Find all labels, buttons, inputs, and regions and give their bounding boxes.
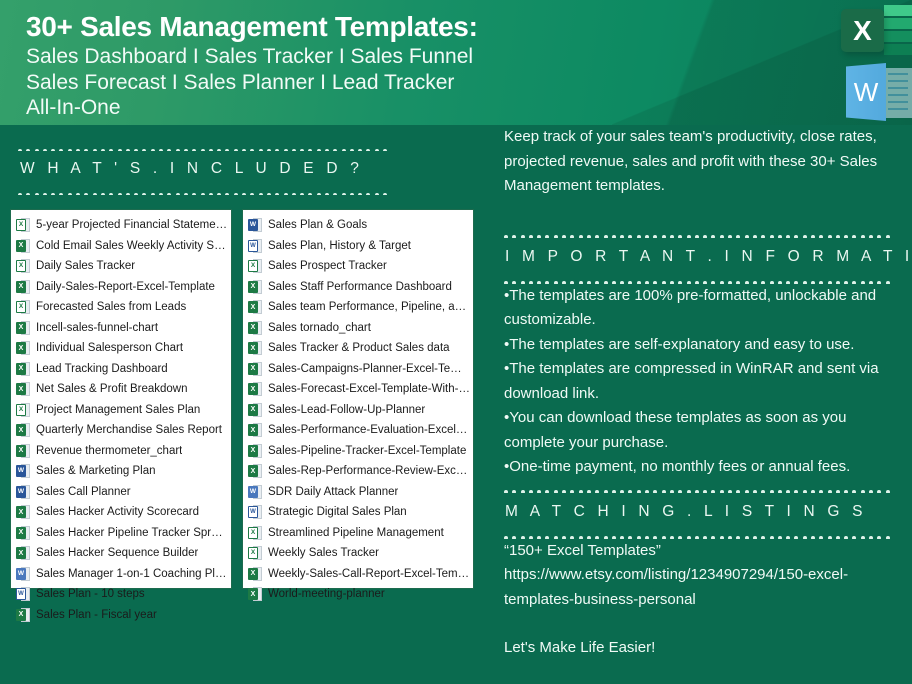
divider-dot (504, 235, 508, 237)
excel-file-icon: X (16, 279, 30, 295)
divider-dot (184, 149, 188, 151)
file-list-panel-left[interactable]: X5-year Projected Financial StatementsXC… (10, 209, 232, 589)
divider-dot (358, 193, 362, 195)
divider-dot (803, 490, 807, 492)
list-item[interactable]: XSales-Campaigns-Planner-Excel-Template (248, 359, 470, 380)
divider-dot (753, 536, 757, 538)
list-item[interactable]: XSales Staff Performance Dashboard (248, 277, 470, 298)
divider-dot (250, 193, 254, 195)
divider-dot (192, 149, 196, 151)
excel-file-icon: X (16, 238, 30, 254)
excel-chart-file-icon: X (16, 299, 30, 315)
divider-dot (225, 193, 229, 195)
divider-dot (852, 536, 856, 538)
list-item[interactable]: WSales Plan, History & Target (248, 236, 470, 257)
divider-dot (761, 536, 765, 538)
excel-sheet-stripe-3 (884, 31, 912, 42)
list-item-label: Incell-sales-funnel-chart (36, 322, 158, 334)
divider-dot (109, 193, 113, 195)
list-item[interactable]: WSDR Daily Attack Planner (248, 482, 470, 503)
list-item-label: Forecasted Sales from Leads (36, 301, 186, 313)
list-item-label: Sales Plan, History & Target (268, 240, 411, 252)
list-item-label: Sales-Pipeline-Tracker-Excel-Template (268, 445, 466, 457)
divider-dot (587, 490, 591, 492)
divider-dot (18, 149, 22, 151)
divider-dot (142, 193, 146, 195)
list-item-label: Sales-Performance-Evaluation-Excel-Te... (268, 424, 470, 436)
divider-dot (711, 536, 715, 538)
list-item[interactable]: WSales Plan & Goals (248, 215, 470, 236)
divider-dot (828, 235, 832, 237)
word-document-page-icon (884, 68, 912, 118)
divider-dot (678, 235, 682, 237)
divider-dot (794, 536, 798, 538)
divider-dot (342, 193, 346, 195)
excel-file-icon: X (16, 443, 30, 459)
divider-dot (595, 235, 599, 237)
divider-dot (720, 536, 724, 538)
divider-dot (869, 235, 873, 237)
divider-dot (570, 235, 574, 237)
divider-dot (358, 149, 362, 151)
list-item[interactable]: XSales Prospect Tracker (248, 256, 470, 277)
list-item[interactable]: WSales Manager 1-on-1 Coaching Planner (16, 564, 228, 585)
excel-file-icon: X (16, 320, 30, 336)
divider-dot (761, 490, 765, 492)
divider-dot (794, 490, 798, 492)
divider-dot (35, 193, 39, 195)
bullet-item: •The templates are 100% pre-formatted, u… (504, 284, 904, 333)
excel-file-icon: X (248, 586, 262, 602)
matching-listings-title: M A T C H I N G . L I S T I N G S (505, 503, 904, 521)
divider-dot (844, 490, 848, 492)
list-item[interactable]: XSales Hacker Activity Scorecard (16, 502, 228, 523)
divider-dot (628, 490, 632, 492)
list-item[interactable]: XSales Hacker Sequence Builder (16, 543, 228, 564)
divider-dot (803, 235, 807, 237)
divider-dot (242, 193, 246, 195)
divider-dot (284, 149, 288, 151)
divider-dot (93, 149, 97, 151)
divider-dot (753, 490, 757, 492)
divider-dot (167, 149, 171, 151)
divider-dot (284, 193, 288, 195)
right-column: Keep track of your sales team's producti… (504, 125, 904, 684)
list-item-label: Sales Manager 1-on-1 Coaching Planner (36, 568, 228, 580)
whats-included-title: W H A T ' S . I N C L U D E D ? (20, 160, 390, 178)
divider-dot (562, 235, 566, 237)
divider-dot (736, 536, 740, 538)
excel-chart-file-icon: X (16, 402, 30, 418)
divider-dot (570, 490, 574, 492)
divider-dot (504, 490, 508, 492)
list-item[interactable]: XLead Tracking Dashboard (16, 359, 228, 380)
divider-dot (537, 490, 541, 492)
dotted-divider-top (18, 142, 390, 151)
divider-dot (695, 490, 699, 492)
divider-dot (877, 281, 881, 283)
divider-dot (877, 536, 881, 538)
list-item-label: Net Sales & Profit Breakdown (36, 383, 188, 395)
divider-dot (844, 536, 848, 538)
list-item[interactable]: WSales Call Planner (16, 482, 228, 503)
word-file-icon: W (248, 484, 262, 500)
divider-dot (653, 235, 657, 237)
divider-dot (59, 193, 63, 195)
list-item[interactable]: XSales tornado_chart (248, 318, 470, 339)
list-item-label: Sales Call Planner (36, 486, 131, 498)
bullet-item: •The templates are compressed in WinRAR … (504, 357, 904, 406)
divider-dot (687, 536, 691, 538)
excel-file-icon: X (248, 279, 262, 295)
divider-dot (176, 149, 180, 151)
list-item[interactable]: XDaily Sales Tracker (16, 256, 228, 277)
divider-dot (670, 536, 674, 538)
whats-included-block: W H A T ' S . I N C L U D E D ? (18, 142, 390, 195)
divider-dot (728, 490, 732, 492)
excel-chart-file-icon: X (16, 258, 30, 274)
divider-dot (159, 193, 163, 195)
list-item[interactable]: XSales Hacker Pipeline Tracker Spreadshe… (16, 523, 228, 544)
list-item[interactable]: XStreamlined Pipeline Management (248, 523, 470, 544)
word-doc-file-icon: W (16, 586, 30, 602)
divider-dot (68, 149, 72, 151)
divider-dot (18, 193, 22, 195)
divider-dot (259, 193, 263, 195)
dotted-divider-important-bottom (504, 275, 904, 284)
divider-dot (604, 235, 608, 237)
divider-dot (736, 235, 740, 237)
divider-dot (562, 490, 566, 492)
divider-dot (620, 490, 624, 492)
intro-paragraph: Keep track of your sales team's producti… (504, 125, 904, 199)
file-list-panel-right[interactable]: WSales Plan & GoalsWSales Plan, History … (242, 209, 474, 589)
divider-dot (217, 149, 221, 151)
divider-dot (184, 193, 188, 195)
divider-dot (209, 193, 213, 195)
divider-dot (670, 490, 674, 492)
dotted-divider-matching-bottom (504, 530, 904, 539)
divider-dot (366, 193, 370, 195)
list-item[interactable]: WSales Plan - 10 steps (16, 584, 228, 605)
excel-sheet-stripe-2 (884, 18, 912, 29)
divider-dot (745, 536, 749, 538)
divider-dot (300, 149, 304, 151)
list-item[interactable]: WStrategic Digital Sales Plan (248, 502, 470, 523)
divider-dot (84, 193, 88, 195)
divider-dot (770, 536, 774, 538)
list-item-label: Lead Tracking Dashboard (36, 363, 168, 375)
header-subtitle-line-1: Sales Dashboard I Sales Tracker I Sales … (26, 44, 726, 70)
excel-file-icon: X (248, 566, 262, 582)
header-subtitle-line-3: All-In-One (26, 95, 726, 121)
divider-dot (250, 149, 254, 151)
divider-dot (142, 149, 146, 151)
bullet-item: •The templates are self-explanatory and … (504, 333, 904, 358)
divider-dot (217, 193, 221, 195)
divider-dot (720, 235, 724, 237)
divider-dot (512, 235, 516, 237)
list-item[interactable]: XIncell-sales-funnel-chart (16, 318, 228, 339)
divider-dot (637, 235, 641, 237)
list-item-label: Project Management Sales Plan (36, 404, 200, 416)
divider-dot (869, 490, 873, 492)
header-text-block: 30+ Sales Management Templates: Sales Da… (26, 10, 726, 121)
divider-dot (333, 193, 337, 195)
divider-dot (43, 149, 47, 151)
divider-dot (366, 149, 370, 151)
divider-dot (308, 193, 312, 195)
bullet-item: •You can download these templates as soo… (504, 406, 904, 455)
excel-file-icon: X (248, 402, 262, 418)
list-item-label: Streamlined Pipeline Management (268, 527, 444, 539)
divider-dot (554, 490, 558, 492)
divider-dot (109, 149, 113, 151)
divider-dot (275, 149, 279, 151)
divider-dot (579, 235, 583, 237)
divider-dot (68, 193, 72, 195)
divider-dot (118, 149, 122, 151)
divider-dot (554, 235, 558, 237)
divider-dot (587, 235, 591, 237)
divider-dot (126, 149, 130, 151)
divider-dot (101, 193, 105, 195)
list-item[interactable]: XSales Tracker & Product Sales data (248, 338, 470, 359)
divider-dot (770, 490, 774, 492)
list-item[interactable]: XSales Plan - Fiscal year (16, 605, 228, 626)
divider-dot (267, 193, 271, 195)
list-item[interactable]: XNet Sales & Profit Breakdown (16, 379, 228, 400)
divider-dot (342, 149, 346, 151)
matching-listing-name: “150+ Excel Templates” (504, 539, 904, 564)
list-item-label: Sales Plan & Goals (268, 219, 367, 231)
divider-dot (242, 149, 246, 151)
list-item-label: Revenue thermometer_chart (36, 445, 182, 457)
divider-dot (383, 149, 387, 151)
divider-dot (711, 490, 715, 492)
divider-dot (267, 149, 271, 151)
list-item[interactable]: XQuarterly Merchandise Sales Report (16, 420, 228, 441)
divider-dot (350, 149, 354, 151)
divider-dot (728, 235, 732, 237)
excel-file-icon: X (16, 422, 30, 438)
divider-dot (695, 235, 699, 237)
list-item[interactable]: XSales-Performance-Evaluation-Excel-Te..… (248, 420, 470, 441)
excel-sheet-stripe-4 (884, 44, 912, 55)
divider-dot (292, 193, 296, 195)
divider-dot (861, 490, 865, 492)
divider-dot (886, 536, 890, 538)
list-item[interactable]: WSales & Marketing Plan (16, 461, 228, 482)
matching-listing-url[interactable]: https://www.etsy.com/listing/1234907294/… (504, 563, 904, 612)
excel-file-icon: X (16, 340, 30, 356)
word-file-icon: W (248, 217, 262, 233)
left-column: W H A T ' S . I N C L U D E D ? X5-year … (0, 125, 495, 684)
divider-dot (51, 149, 55, 151)
excel-file-icon: X (248, 463, 262, 479)
divider-dot (167, 193, 171, 195)
excel-sheet-stripe-1 (884, 5, 912, 16)
divider-dot (678, 490, 682, 492)
divider-dot (201, 149, 205, 151)
list-item[interactable]: XForecasted Sales from Leads (16, 297, 228, 318)
divider-dot (545, 235, 549, 237)
list-item-label: Quarterly Merchandise Sales Report (36, 424, 222, 436)
divider-dot (720, 490, 724, 492)
excel-file-icon: X (248, 422, 262, 438)
divider-dot (225, 149, 229, 151)
divider-dot (794, 235, 798, 237)
divider-dot (844, 235, 848, 237)
divider-dot (778, 490, 782, 492)
list-item[interactable]: XDaily-Sales-Report-Excel-Template (16, 277, 228, 298)
divider-dot (93, 193, 97, 195)
word-file-icon: W (16, 463, 30, 479)
divider-dot (521, 235, 525, 237)
excel-file-icon: X (248, 361, 262, 377)
divider-dot (637, 490, 641, 492)
excel-chart-file-icon: X (248, 258, 262, 274)
excel-file-icon: X (16, 545, 30, 561)
list-item[interactable]: X5-year Projected Financial Statements (16, 215, 228, 236)
list-item-label: Sales Hacker Pipeline Tracker Spreadshee… (36, 527, 228, 539)
list-item-label: Weekly Sales Tracker (268, 547, 379, 559)
divider-dot (836, 536, 840, 538)
excel-file-icon: X (16, 361, 30, 377)
divider-dot (736, 490, 740, 492)
divider-dot (529, 235, 533, 237)
divider-dot (59, 149, 63, 151)
list-item[interactable]: XWeekly-Sales-Call-Report-Excel-Template (248, 564, 470, 585)
divider-dot (703, 235, 707, 237)
divider-dot (325, 193, 329, 195)
list-item-label: Individual Salesperson Chart (36, 342, 183, 354)
divider-dot (811, 490, 815, 492)
divider-dot (76, 149, 80, 151)
divider-dot (662, 490, 666, 492)
list-item-label: Cold Email Sales Weekly Activity Spreads… (36, 240, 228, 252)
divider-dot (886, 235, 890, 237)
word-doc-file-icon: W (248, 238, 262, 254)
list-item-label: Sales-Forecast-Excel-Template-With-Cha..… (268, 383, 470, 395)
divider-dot (545, 490, 549, 492)
divider-dot (662, 536, 666, 538)
divider-dot (529, 490, 533, 492)
word-logo-icon: W (846, 63, 886, 121)
excel-file-icon: X (16, 381, 30, 397)
divider-dot (537, 235, 541, 237)
list-item[interactable]: XRevenue thermometer_chart (16, 441, 228, 462)
list-item[interactable]: XSales-Lead-Follow-Up-Planner (248, 400, 470, 421)
divider-dot (333, 149, 337, 151)
divider-dot (628, 235, 632, 237)
divider-dot (886, 281, 890, 283)
list-item-label: Sales-Lead-Follow-Up-Planner (268, 404, 425, 416)
excel-file-icon: X (16, 504, 30, 520)
list-item-label: Sales & Marketing Plan (36, 465, 156, 477)
divider-dot (778, 235, 782, 237)
dotted-divider-important-top (504, 229, 904, 238)
divider-dot (76, 193, 80, 195)
divider-dot (786, 536, 790, 538)
important-information-title: I M P O R T A N T . I N F O R M A T I O … (505, 248, 904, 266)
divider-dot (786, 235, 790, 237)
divider-dot (612, 490, 616, 492)
divider-dot (819, 235, 823, 237)
list-item-label: Sales Hacker Sequence Builder (36, 547, 198, 559)
divider-dot (595, 490, 599, 492)
divider-dot (678, 536, 682, 538)
divider-dot (761, 235, 765, 237)
list-item[interactable]: XIndividual Salesperson Chart (16, 338, 228, 359)
divider-dot (35, 149, 39, 151)
divider-dot (159, 149, 163, 151)
list-item-label: SDR Daily Attack Planner (268, 486, 398, 498)
list-item[interactable]: XCold Email Sales Weekly Activity Spread… (16, 236, 228, 257)
divider-dot (579, 490, 583, 492)
divider-dot (26, 149, 30, 151)
list-item[interactable]: XWorld-meeting-planner (248, 584, 470, 605)
closing-line: Let's Make Life Easier! (504, 636, 904, 661)
word-doc-file-icon: W (248, 504, 262, 520)
dotted-divider-matching-top (504, 484, 904, 493)
excel-file-icon: X (248, 340, 262, 356)
divider-dot (645, 490, 649, 492)
list-item-label: Sales Hacker Activity Scorecard (36, 506, 199, 518)
list-item-label: Daily Sales Tracker (36, 260, 135, 272)
excel-file-icon: X (248, 381, 262, 397)
divider-dot (703, 490, 707, 492)
list-item[interactable]: XWeekly Sales Tracker (248, 543, 470, 564)
divider-dot (375, 193, 379, 195)
list-item[interactable]: XProject Management Sales Plan (16, 400, 228, 421)
divider-dot (877, 235, 881, 237)
excel-logo-letter: X (853, 17, 872, 45)
divider-dot (375, 149, 379, 151)
divider-dot (43, 193, 47, 195)
word-file-icon: W (16, 566, 30, 582)
divider-dot (703, 536, 707, 538)
list-item[interactable]: XSales-Pipeline-Tracker-Excel-Template (248, 441, 470, 462)
divider-dot (521, 490, 525, 492)
divider-dot (325, 149, 329, 151)
list-item-label: Sales tornado_chart (268, 322, 371, 334)
divider-dot (728, 536, 732, 538)
list-item-label: World-meeting-planner (268, 588, 385, 600)
divider-dot (778, 536, 782, 538)
divider-dot (383, 193, 387, 195)
list-item[interactable]: XSales-Forecast-Excel-Template-With-Cha.… (248, 379, 470, 400)
word-logo-letter: W (854, 79, 879, 105)
divider-dot (101, 149, 105, 151)
divider-dot (151, 149, 155, 151)
excel-file-icon: X (248, 299, 262, 315)
divider-dot (662, 235, 666, 237)
divider-dot (695, 536, 699, 538)
divider-dot (234, 149, 238, 151)
divider-dot (317, 193, 321, 195)
excel-file-icon: X (248, 443, 262, 459)
divider-dot (852, 235, 856, 237)
divider-dot (512, 490, 516, 492)
list-item[interactable]: XSales team Performance, Pipeline, and T… (248, 297, 470, 318)
divider-dot (259, 149, 263, 151)
list-item-label: Daily-Sales-Report-Excel-Template (36, 281, 215, 293)
excel-file-icon: X (248, 320, 262, 336)
list-item[interactable]: XSales-Rep-Performance-Review-Excel-Te..… (248, 461, 470, 482)
list-item-label: Weekly-Sales-Call-Report-Excel-Template (268, 568, 470, 580)
excel-chart-file-icon: X (16, 217, 30, 233)
